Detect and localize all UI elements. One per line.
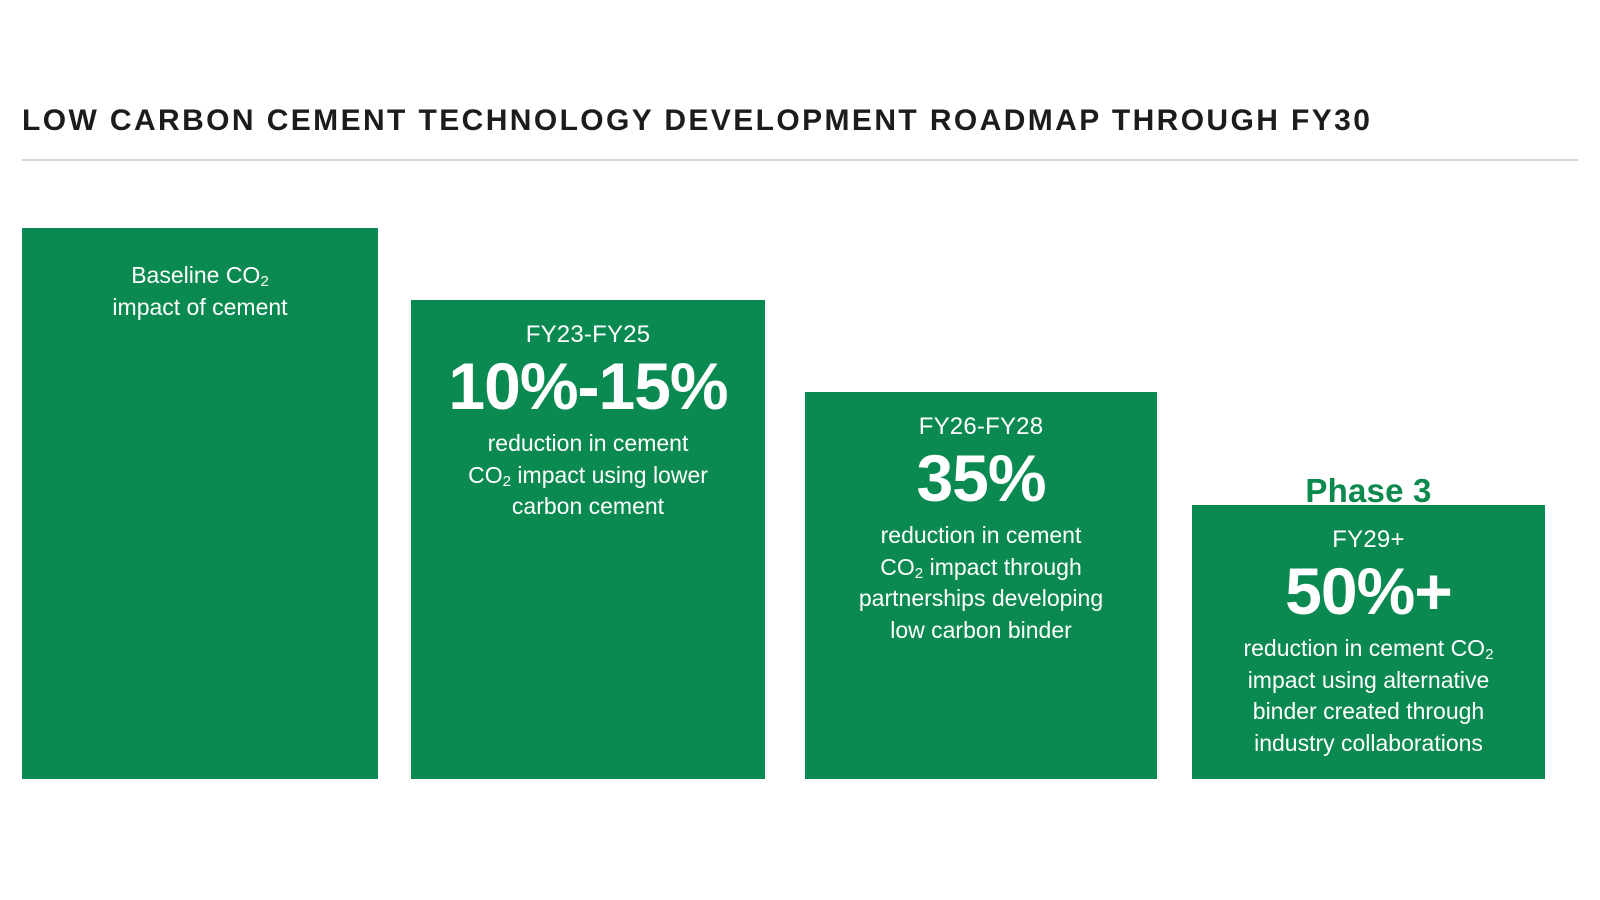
baseline-caption-line2: impact of cement xyxy=(36,292,364,324)
phase-2-desc-line3: partnerships developing xyxy=(819,583,1143,615)
phase-3-figure: 50%+ xyxy=(1206,557,1531,627)
phase-1-figure: 10%-15% xyxy=(425,352,751,422)
phase-1-years: FY23-FY25 xyxy=(425,320,751,350)
infographic-page: LOW CARBON CEMENT TECHNOLOGY DEVELOPMENT… xyxy=(0,0,1600,900)
co2-subscript: 2 xyxy=(503,473,511,490)
phase-3-years: FY29+ xyxy=(1206,525,1531,555)
co2-subscript: 2 xyxy=(1485,646,1493,663)
phase-3-desc-line4: industry collaborations xyxy=(1206,728,1531,760)
phase-1-description: reduction in cement CO2 impact using low… xyxy=(425,428,751,523)
bar-phase-1: FY23-FY25 10%-15% reduction in cement CO… xyxy=(411,300,765,779)
phase-3-desc-line1-a: reduction in cement CO xyxy=(1243,635,1485,661)
phase-3-desc-line2: impact using alternative xyxy=(1206,665,1531,697)
phase-3-heading: Phase 3 xyxy=(1192,474,1545,507)
phase-3-desc-line3: binder created through xyxy=(1206,696,1531,728)
phase-1-desc-line2-b: impact using lower xyxy=(511,462,708,488)
phase-3-description: reduction in cement CO2 impact using alt… xyxy=(1206,633,1531,760)
roadmap-bar-chart: Baseline CO2 impact of cement Phase 1 FY… xyxy=(0,0,1600,900)
phase-1-desc-line3: carbon cement xyxy=(425,491,751,523)
phase-2-desc-line2-a: CO xyxy=(880,554,915,580)
bar-phase-2: FY26-FY28 35% reduction in cement CO2 im… xyxy=(805,392,1157,779)
co2-subscript: 2 xyxy=(915,565,923,582)
phase-2-desc-line2-b: impact through xyxy=(923,554,1082,580)
phase-2-desc-line4: low carbon binder xyxy=(819,615,1143,647)
phase-1-desc-line1: reduction in cement xyxy=(425,428,751,460)
bar-phase-3: FY29+ 50%+ reduction in cement CO2 impac… xyxy=(1192,505,1545,779)
phase-2-years: FY26-FY28 xyxy=(819,412,1143,442)
bar-baseline: Baseline CO2 impact of cement xyxy=(22,228,378,779)
baseline-caption: Baseline CO2 impact of cement xyxy=(36,248,364,323)
phase-2-description: reduction in cement CO2 impact through p… xyxy=(819,520,1143,647)
phase-2-desc-line1: reduction in cement xyxy=(819,520,1143,552)
phase-1-desc-line2-a: CO xyxy=(468,462,503,488)
phase-2-figure: 35% xyxy=(819,444,1143,514)
baseline-caption-line1: Baseline CO xyxy=(131,262,260,288)
co2-subscript: 2 xyxy=(260,273,268,290)
